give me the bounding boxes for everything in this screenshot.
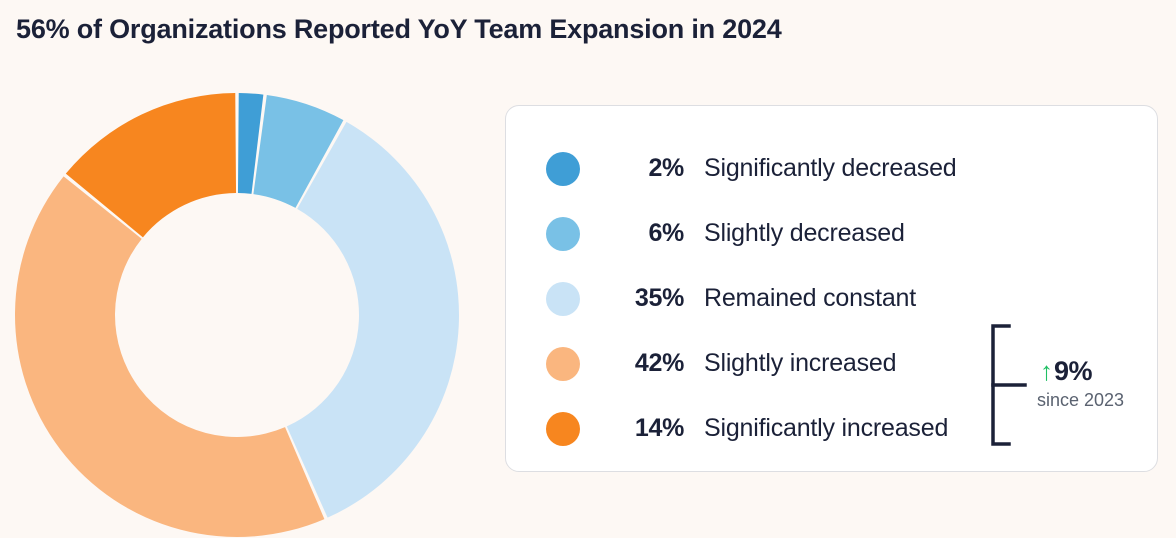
legend-label: Significantly decreased xyxy=(704,154,957,183)
legend-item[interactable]: 6%Slightly decreased xyxy=(546,201,1066,266)
legend-percent: 6% xyxy=(598,219,684,248)
donut-chart: 2% Significantly decreased6% Slightly de… xyxy=(0,70,470,538)
donut-slice[interactable]: 42% Slightly increased xyxy=(15,176,324,537)
chart-page: 56% of Organizations Reported YoY Team E… xyxy=(0,0,1176,538)
legend-label: Slightly increased xyxy=(704,349,896,378)
legend-percent: 14% xyxy=(598,414,684,443)
legend-label: Remained constant xyxy=(704,284,916,313)
legend-swatch-icon xyxy=(546,412,580,446)
legend-label: Significantly increased xyxy=(704,414,948,443)
legend-percent: 42% xyxy=(598,349,684,378)
legend-percent: 35% xyxy=(598,284,684,313)
legend-swatch-icon xyxy=(546,282,580,316)
legend-card: 2%Significantly decreased6%Slightly decr… xyxy=(505,105,1158,472)
growth-annotation: ↑ 9% since 2023 xyxy=(987,324,1147,446)
donut-slice-group: 2% Significantly decreased6% Slightly de… xyxy=(15,93,459,537)
bracket-icon xyxy=(987,324,1027,446)
legend-percent: 2% xyxy=(598,154,684,183)
legend-item[interactable]: 2%Significantly decreased xyxy=(546,136,1066,201)
legend-label: Slightly decreased xyxy=(704,219,905,248)
legend-swatch-icon xyxy=(546,347,580,381)
growth-value-row: ↑ 9% xyxy=(1040,358,1092,385)
page-title: 56% of Organizations Reported YoY Team E… xyxy=(16,14,782,45)
legend-swatch-icon xyxy=(546,152,580,186)
legend-item[interactable]: 35%Remained constant xyxy=(546,266,1066,331)
growth-value: 9% xyxy=(1054,358,1092,385)
donut-slice[interactable]: 35% Remained constant xyxy=(287,122,459,518)
arrow-up-icon: ↑ xyxy=(1040,358,1053,384)
legend-swatch-icon xyxy=(546,217,580,251)
donut-chart-svg: 2% Significantly decreased6% Slightly de… xyxy=(0,70,470,538)
growth-subtitle: since 2023 xyxy=(1037,390,1124,411)
